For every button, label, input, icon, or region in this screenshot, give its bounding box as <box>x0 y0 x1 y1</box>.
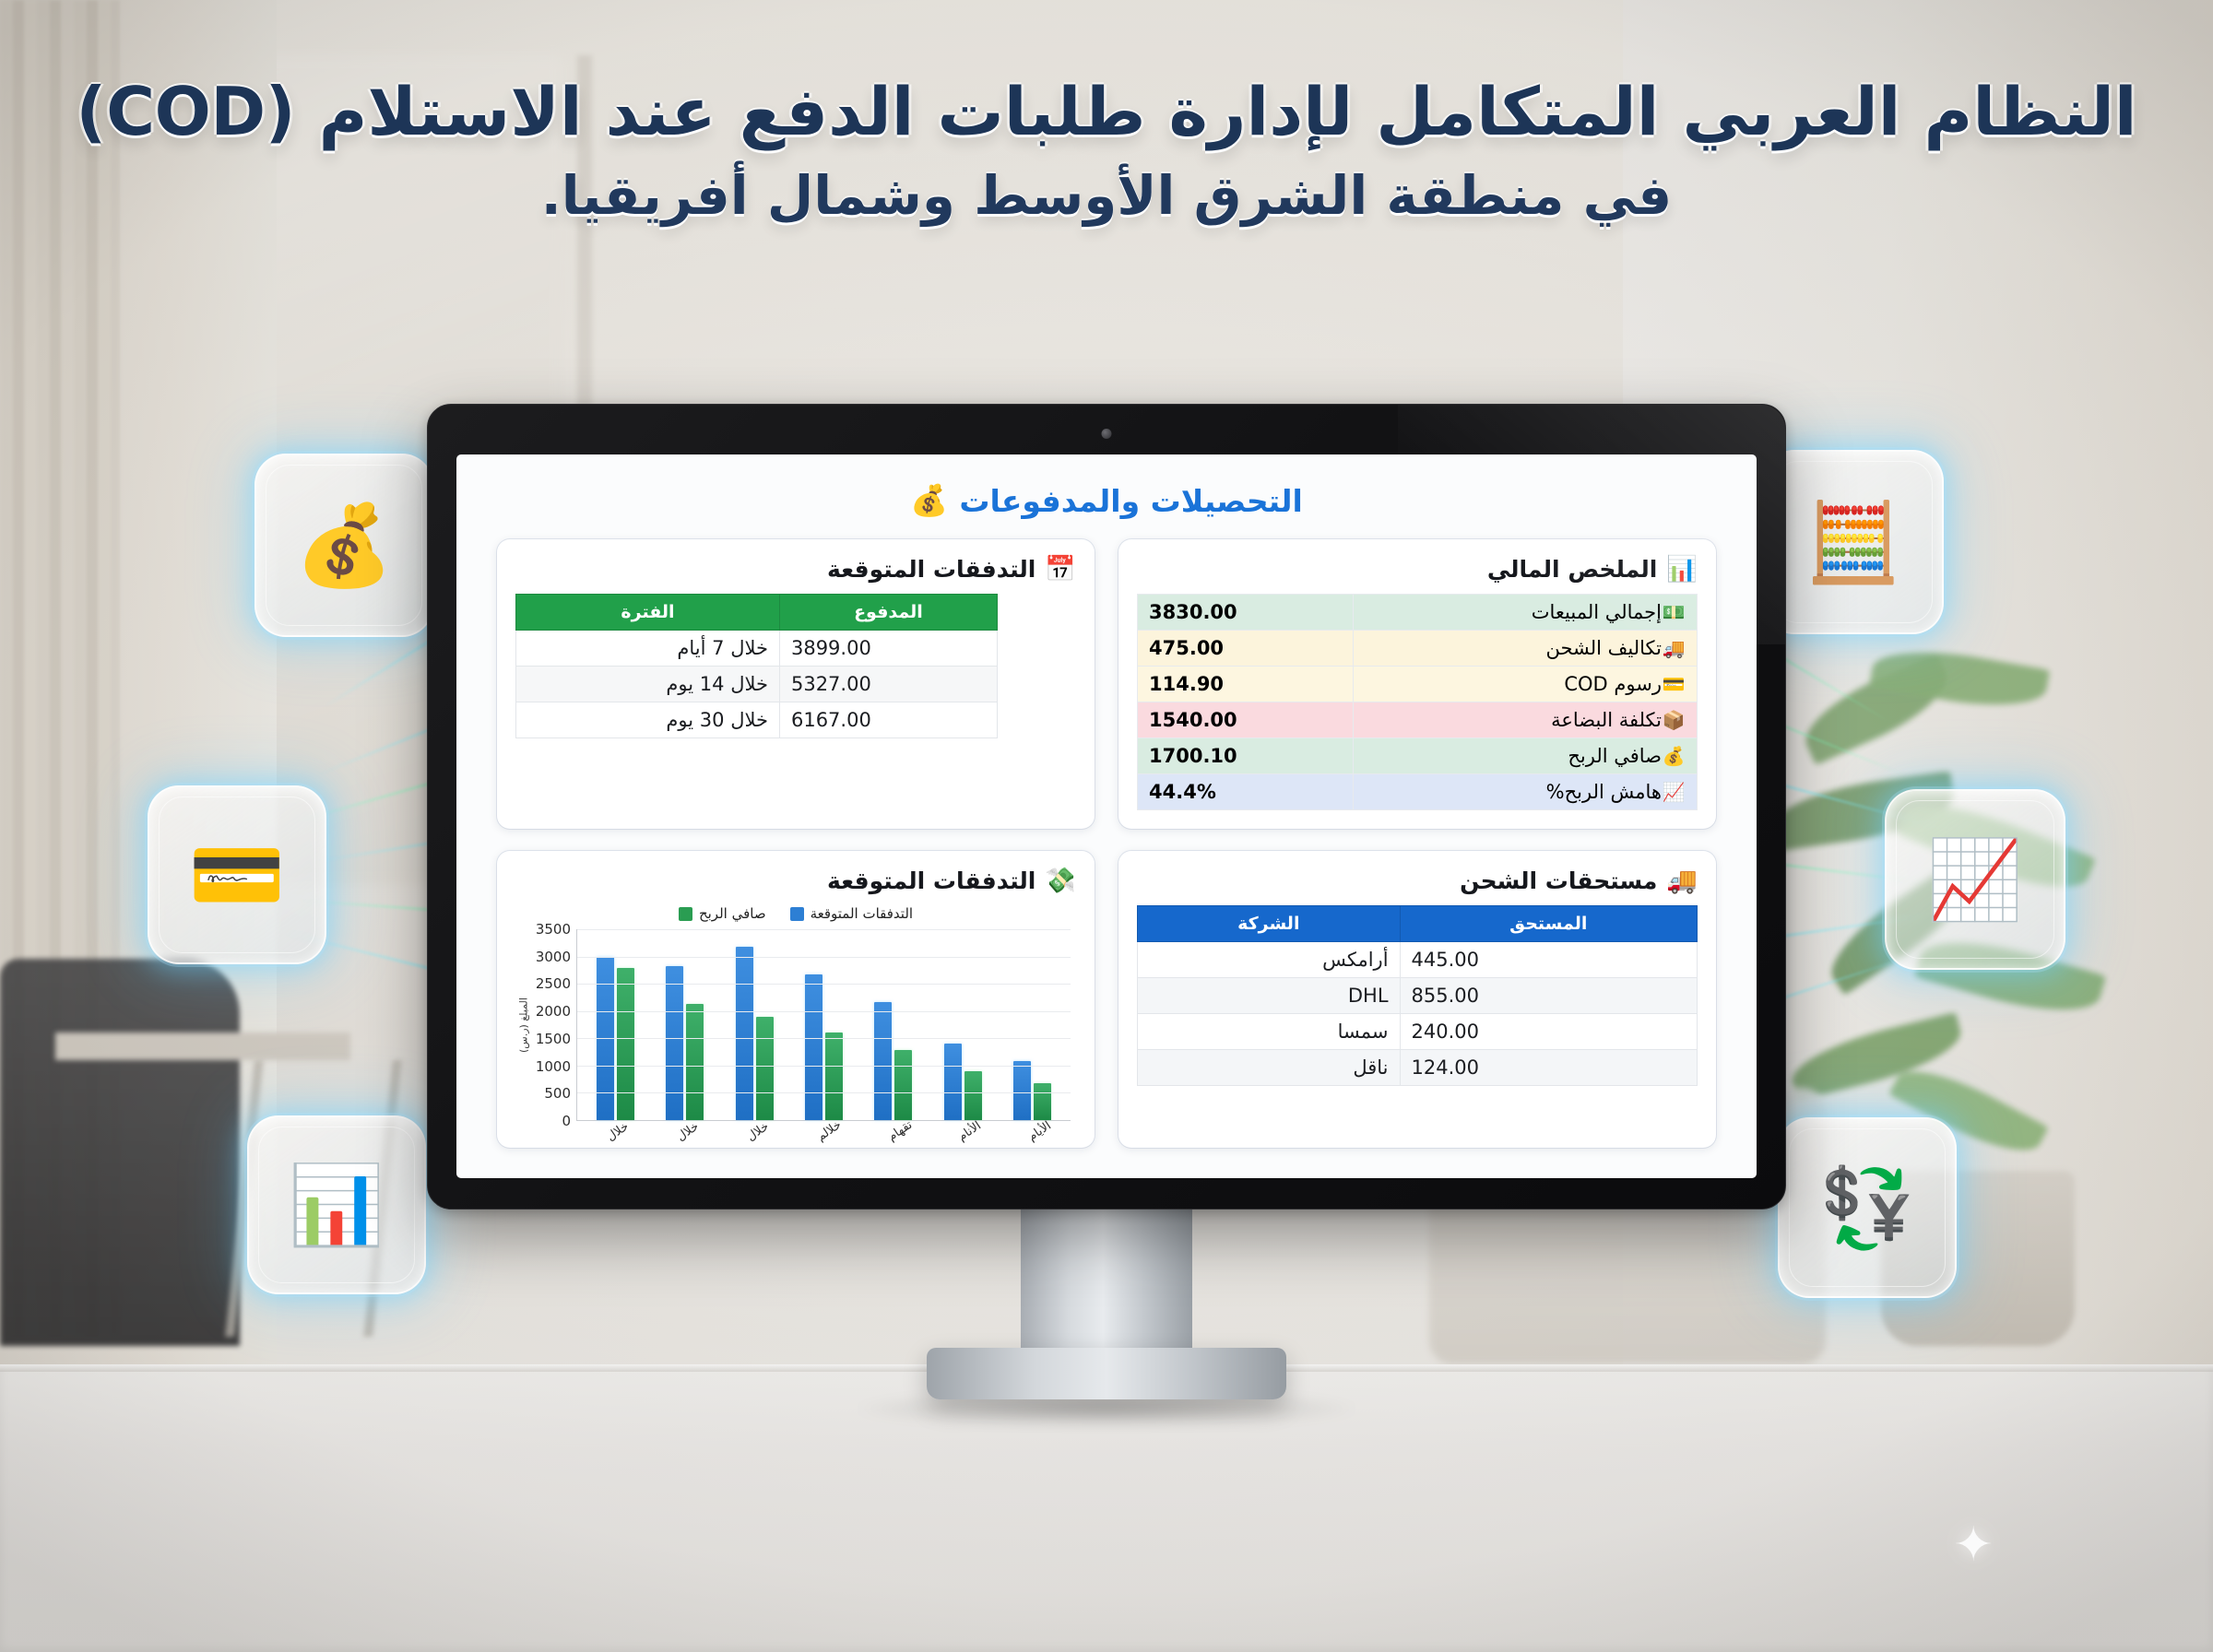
webcam-icon <box>1102 429 1112 439</box>
dashboard-title-text: التحصيلات والمدفوعات <box>959 483 1302 519</box>
bar-group <box>597 929 634 1120</box>
x-tick-label: خلال <box>604 1123 626 1144</box>
fin-row-value: 44.4% <box>1138 774 1354 810</box>
table-row: 💵إجمالي المبيعات 3830.00 <box>1138 595 1698 631</box>
y-tick-label: 0 <box>562 1113 571 1129</box>
chart-plot-area: المبلغ (ر.س) 050010001500200025003000350… <box>515 927 1076 1121</box>
shipping-dues-card: 🚚 مستحقات الشحن المستحق الشركة 44 <box>1118 851 1716 1148</box>
expected-flows-header: 📅 التدفقات المتوقعة <box>515 556 1076 583</box>
y-tick-label: 500 <box>544 1085 571 1102</box>
truck-icon: 🚚 <box>1662 637 1686 659</box>
col-company: الشركة <box>1138 906 1401 942</box>
fin-row-value: 3830.00 <box>1138 595 1354 631</box>
bar-group <box>805 929 843 1120</box>
ship-company: ناقل <box>1138 1050 1401 1086</box>
table-row: 6167.00 خلال 30 يوم <box>516 702 998 738</box>
legend-item: صافي الربح <box>679 905 766 922</box>
bar-chart-growth-icon: 📊 <box>247 1115 426 1294</box>
chart-increasing-icon: 📈 <box>1885 789 2065 970</box>
bar-net-profit <box>686 1004 704 1120</box>
y-tick-label: 3500 <box>536 921 571 938</box>
package-icon: 📦 <box>1662 709 1686 731</box>
bar-net-profit <box>617 968 634 1120</box>
money-bag-icon-small: 💰 <box>910 482 948 519</box>
financial-summary-card: 📊 الملخص المالي 💵إجمالي المبيعات 3830.00 <box>1118 539 1716 829</box>
chart-bars <box>577 929 1071 1120</box>
table-row: 3899.00 خلال 7 أيام <box>516 631 998 667</box>
y-tick-label: 1000 <box>536 1058 571 1075</box>
bar-expected-flow <box>874 1002 892 1120</box>
y-tick-label: 2000 <box>536 1003 571 1020</box>
bar-expected-flow <box>736 947 753 1120</box>
table-row: 💰صافي الربح 1700.10 <box>1138 738 1698 774</box>
expected-flows-title: التدفقات المتوقعة <box>827 556 1035 583</box>
x-tick-label: الأنام <box>955 1123 977 1144</box>
ship-due: 445.00 <box>1400 942 1697 978</box>
credit-card-icon: 💳 <box>148 785 326 964</box>
flow-period: خلال 30 يوم <box>516 702 780 738</box>
monitor-screen: التحصيلات والمدفوعات 💰 📊 الملخص المالي <box>456 454 1757 1178</box>
shipping-dues-title: مستحقات الشحن <box>1460 867 1657 894</box>
col-due: المستحق <box>1400 906 1697 942</box>
legend-label: صافي الربح <box>699 905 766 922</box>
chart-header: 💸 التدفقات المتوقعة <box>515 867 1076 894</box>
fin-row-value: 475.00 <box>1138 631 1354 667</box>
gridline <box>577 929 1071 930</box>
bar-net-profit <box>964 1071 982 1120</box>
hero-title-block: النظام العربي المتكامل لإدارة طلبات الدف… <box>0 72 2213 229</box>
truck-icon-header: 🚚 <box>1666 868 1698 893</box>
bar-group <box>736 929 774 1120</box>
fin-row-label: 📈هامش الربح% <box>1354 774 1698 810</box>
fin-row-value: 1700.10 <box>1138 738 1354 774</box>
money-with-wings-icon: 💸 <box>1045 868 1076 893</box>
flow-amount: 3899.00 <box>779 631 997 667</box>
gridline <box>577 1038 1071 1039</box>
table-header-row: المستحق الشركة <box>1138 906 1698 942</box>
legend-swatch-icon <box>790 907 804 921</box>
table-row: 124.00 ناقل <box>1138 1050 1698 1086</box>
money-bag-icon-row: 💰 <box>1662 745 1686 767</box>
calendar-icon: 📅 <box>1045 557 1076 582</box>
expected-flows-table: المدفوع الفترة 3899.00 خلال 7 أيام 5327.… <box>515 594 998 738</box>
col-amount: المدفوع <box>779 595 997 631</box>
dashboard: التحصيلات والمدفوعات 💰 📊 الملخص المالي <box>456 454 1757 1178</box>
chart-legend: التدفقات المتوقعةصافي الربح <box>515 905 1076 922</box>
expected-flows-card: 📅 التدفقات المتوقعة المدفوع الفترة <box>497 539 1095 829</box>
table-row: 5327.00 خلال 14 يوم <box>516 667 998 702</box>
bar-expected-flow <box>1013 1061 1031 1120</box>
sparkle-decoration: ✦ <box>1953 1517 1994 1573</box>
bar-chart-growth-glyph: 📊 <box>289 1160 385 1251</box>
ship-company: سمسا <box>1138 1014 1401 1050</box>
legend-swatch-icon <box>679 907 692 921</box>
bar-expected-flow <box>666 966 683 1120</box>
chart-title: التدفقات المتوقعة <box>827 867 1035 894</box>
credit-card-icon-small: 💳 <box>1662 673 1686 695</box>
x-tick-label: خلال <box>674 1123 696 1144</box>
flow-period: خلال 14 يوم <box>516 667 780 702</box>
ship-due: 240.00 <box>1400 1014 1697 1050</box>
col-period: الفترة <box>516 595 780 631</box>
bar-net-profit <box>756 1017 774 1120</box>
gridline <box>577 1092 1071 1093</box>
hero-title-line2: في منطقة الشرق الأوسط وشمال أفريقيا. <box>0 162 2213 230</box>
chart-increasing-icon-row: 📈 <box>1662 781 1686 803</box>
table-row: 240.00 سمسا <box>1138 1014 1698 1050</box>
chart-plot <box>576 929 1071 1121</box>
monitor: التحصيلات والمدفوعات 💰 📊 الملخص المالي <box>427 404 1786 1209</box>
calculator-glyph: 🧮 <box>1805 497 1902 588</box>
y-tick-label: 2500 <box>536 975 571 992</box>
banknote-icon: 💵 <box>1662 601 1686 623</box>
gridline <box>577 1066 1071 1067</box>
dashboard-title: التحصيلات والمدفوعات 💰 <box>480 482 1733 519</box>
gridline <box>577 1011 1071 1012</box>
fin-row-label: 🚚تكاليف الشحن <box>1354 631 1698 667</box>
chart-x-axis-labels: خلالخلالخلالخلالمتقهامالأنامالأيام <box>576 1121 1076 1140</box>
ship-company: DHL <box>1138 978 1401 1014</box>
monitor-stand-base <box>927 1348 1286 1399</box>
table-row: 💳رسوم COD 114.90 <box>1138 667 1698 702</box>
table-row: 🚚تكاليف الشحن 475.00 <box>1138 631 1698 667</box>
table-row: 445.00 أرامكس <box>1138 942 1698 978</box>
table-row: 📈هامش الربح% 44.4% <box>1138 774 1698 810</box>
money-bag-glyph: 💰 <box>294 499 393 592</box>
gridline <box>577 984 1071 985</box>
fin-row-value: 114.90 <box>1138 667 1354 702</box>
fin-row-label: 💰صافي الربح <box>1354 738 1698 774</box>
table-header-row: المدفوع الفترة <box>516 595 998 631</box>
money-transfer-glyph: 💱 <box>1819 1162 1916 1254</box>
bar-expected-flow <box>805 974 822 1121</box>
shipping-dues-table: المستحق الشركة 445.00 أرامكس 855.00 <box>1137 905 1698 1086</box>
credit-card-glyph: 💳 <box>189 830 286 921</box>
bar-net-profit <box>894 1050 912 1120</box>
fin-row-value: 1540.00 <box>1138 702 1354 738</box>
bar-expected-flow <box>944 1044 962 1120</box>
x-tick-label: خلالم <box>815 1123 837 1144</box>
financial-summary-title: الملخص المالي <box>1487 556 1658 583</box>
bar-chart-icon: 📊 <box>1666 557 1698 582</box>
bar-net-profit <box>825 1032 843 1120</box>
ship-company: أرامكس <box>1138 942 1401 978</box>
expected-flows-chart-card: 💸 التدفقات المتوقعة التدفقات المتوقعةصاف… <box>497 851 1095 1148</box>
bar-group <box>874 929 912 1120</box>
fin-row-label: 💳رسوم COD <box>1354 667 1698 702</box>
financial-summary-table: 💵إجمالي المبيعات 3830.00 🚚تكاليف الشحن 4… <box>1137 594 1698 810</box>
bar-net-profit <box>1034 1083 1051 1120</box>
dashboard-grid: 📊 الملخص المالي 💵إجمالي المبيعات 3830.00 <box>480 539 1733 1148</box>
bar-group <box>944 929 982 1120</box>
ship-due: 855.00 <box>1400 978 1697 1014</box>
flow-amount: 6167.00 <box>779 702 997 738</box>
table-row: 📦تكلفة البضاعة 1540.00 <box>1138 702 1698 738</box>
ship-due: 124.00 <box>1400 1050 1697 1086</box>
fin-row-label: 📦تكلفة البضاعة <box>1354 702 1698 738</box>
hero-title-line1: النظام العربي المتكامل لإدارة طلبات الدف… <box>0 72 2213 153</box>
flow-amount: 5327.00 <box>779 667 997 702</box>
x-tick-label: تقهام <box>885 1123 907 1144</box>
chart-increasing-glyph: 📈 <box>1927 834 2024 926</box>
chart-y-axis-label: المبلغ (ر.س) <box>515 929 532 1121</box>
y-tick-label: 3000 <box>536 949 571 965</box>
gridline <box>577 957 1071 958</box>
x-tick-label: خلال <box>745 1123 767 1144</box>
shipping-dues-header: 🚚 مستحقات الشحن <box>1137 867 1698 894</box>
bar-group <box>1013 929 1051 1120</box>
money-bag-icon: 💰 <box>254 454 433 637</box>
flow-period: خلال 7 أيام <box>516 631 780 667</box>
x-tick-label: الأيام <box>1026 1123 1048 1144</box>
fin-row-label: 💵إجمالي المبيعات <box>1354 595 1698 631</box>
legend-label: التدفقات المتوقعة <box>811 905 914 922</box>
financial-summary-header: 📊 الملخص المالي <box>1137 556 1698 583</box>
money-transfer-icon: 💱 <box>1778 1117 1957 1298</box>
table-row: 855.00 DHL <box>1138 978 1698 1014</box>
calculator-icon: 🧮 <box>1763 450 1944 634</box>
y-tick-label: 1500 <box>536 1031 571 1047</box>
bar-group <box>666 929 704 1120</box>
monitor-stand-neck <box>1021 1204 1192 1370</box>
legend-item: التدفقات المتوقعة <box>790 905 914 922</box>
chart-y-axis: 0500100015002000250030003500 <box>532 929 576 1121</box>
